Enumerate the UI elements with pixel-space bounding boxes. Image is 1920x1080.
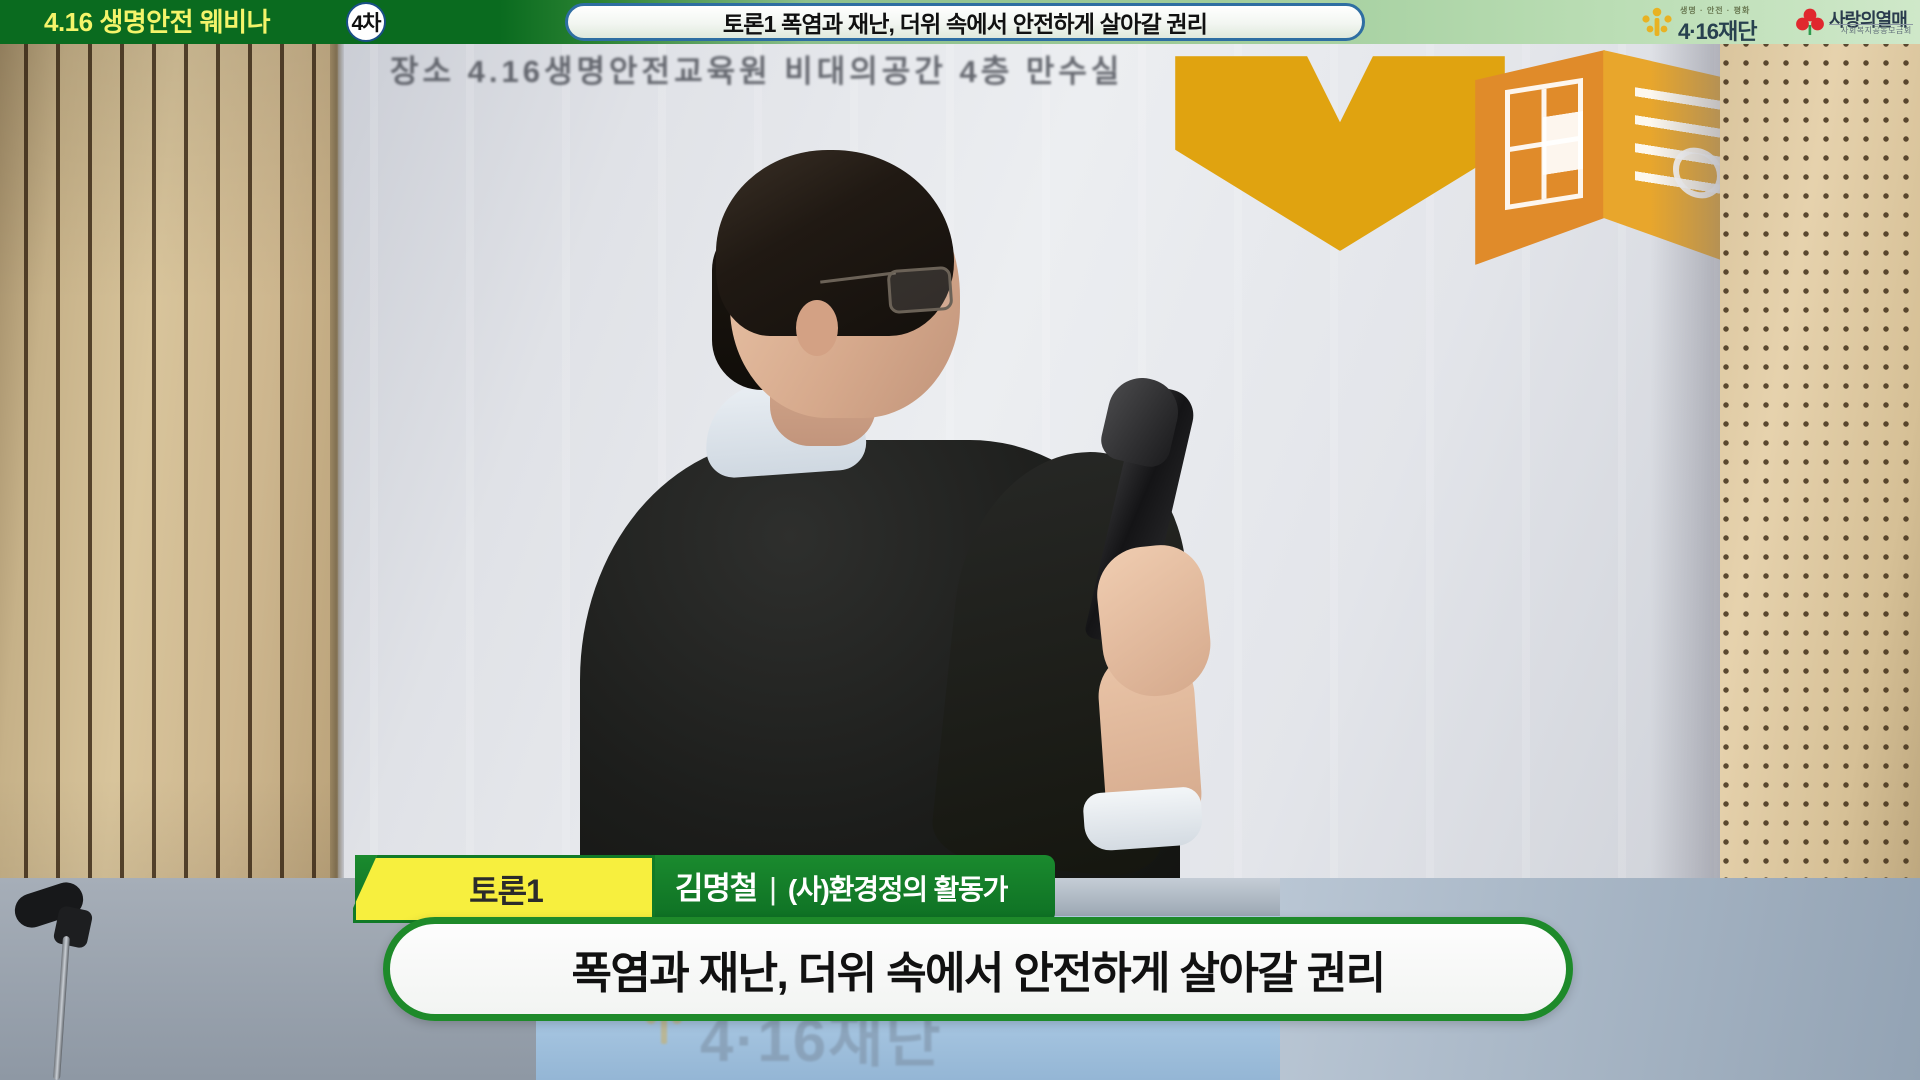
logo-416-foundation: 생명 · 안전 · 평화 4·16재단 [1640,4,1770,40]
glasses-lens-icon [887,266,954,314]
ear [796,300,838,356]
session-badge: 4차 [346,2,386,42]
speaker-role: (사)환경정의 활동가 [788,874,1007,905]
talk-title-pill: 폭염과 재난, 더위 속에서 안전하게 살아갈 권리 [383,917,1573,1021]
topic-pill: 토론1 폭염과 재난, 더위 속에서 안전하게 살아갈 권리 [565,3,1365,41]
slide-venue-text: 장소 4.16생명안전교육원 비대의공간 4층 만수실 [390,46,1290,91]
broadcast-header-bar: 4.16 생명안전 웨비나 4차 토론1 폭염과 재난, 더위 속에서 안전하게… [0,0,1920,44]
shirt-cuff [1082,786,1204,852]
speaker-identity: 김명철|(사)환경정의 활동가 [675,855,1007,923]
perforated-acoustic-panel [1720,0,1920,890]
logo-community-chest: 사랑의열매 사회복지공동모금회 [1795,5,1915,39]
talk-title-text: 폭염과 재난, 더위 속에서 안전하게 살아갈 권리 [571,937,1384,1001]
tree-people-icon [1640,6,1674,38]
speaker-figure [620,150,1320,910]
program-title: 4.16 생명안전 웨비나 [44,0,270,44]
three-berry-icon [1795,8,1825,36]
wall-shadow [1650,0,1720,890]
topic-pill-text: 토론1 폭염과 재난, 더위 속에서 안전하게 살아갈 권리 [723,5,1207,39]
speaker-nameplate: 김명철|(사)환경정의 활동가 토론1 [355,855,1055,923]
checkmark-icon [1543,111,1583,175]
name-role-separator: | [769,871,776,906]
session-tag-label: 토론1 [355,855,657,923]
broadcast-screen: 장소 4.16생명안전교육원 비대의공간 4층 만수실 [0,0,1920,1080]
speaker-name: 김명철 [675,871,757,906]
logo-416-name: 4·16재단 [1678,14,1757,44]
logo-community-chest-subtitle: 사회복지공동모금회 [1841,25,1912,36]
